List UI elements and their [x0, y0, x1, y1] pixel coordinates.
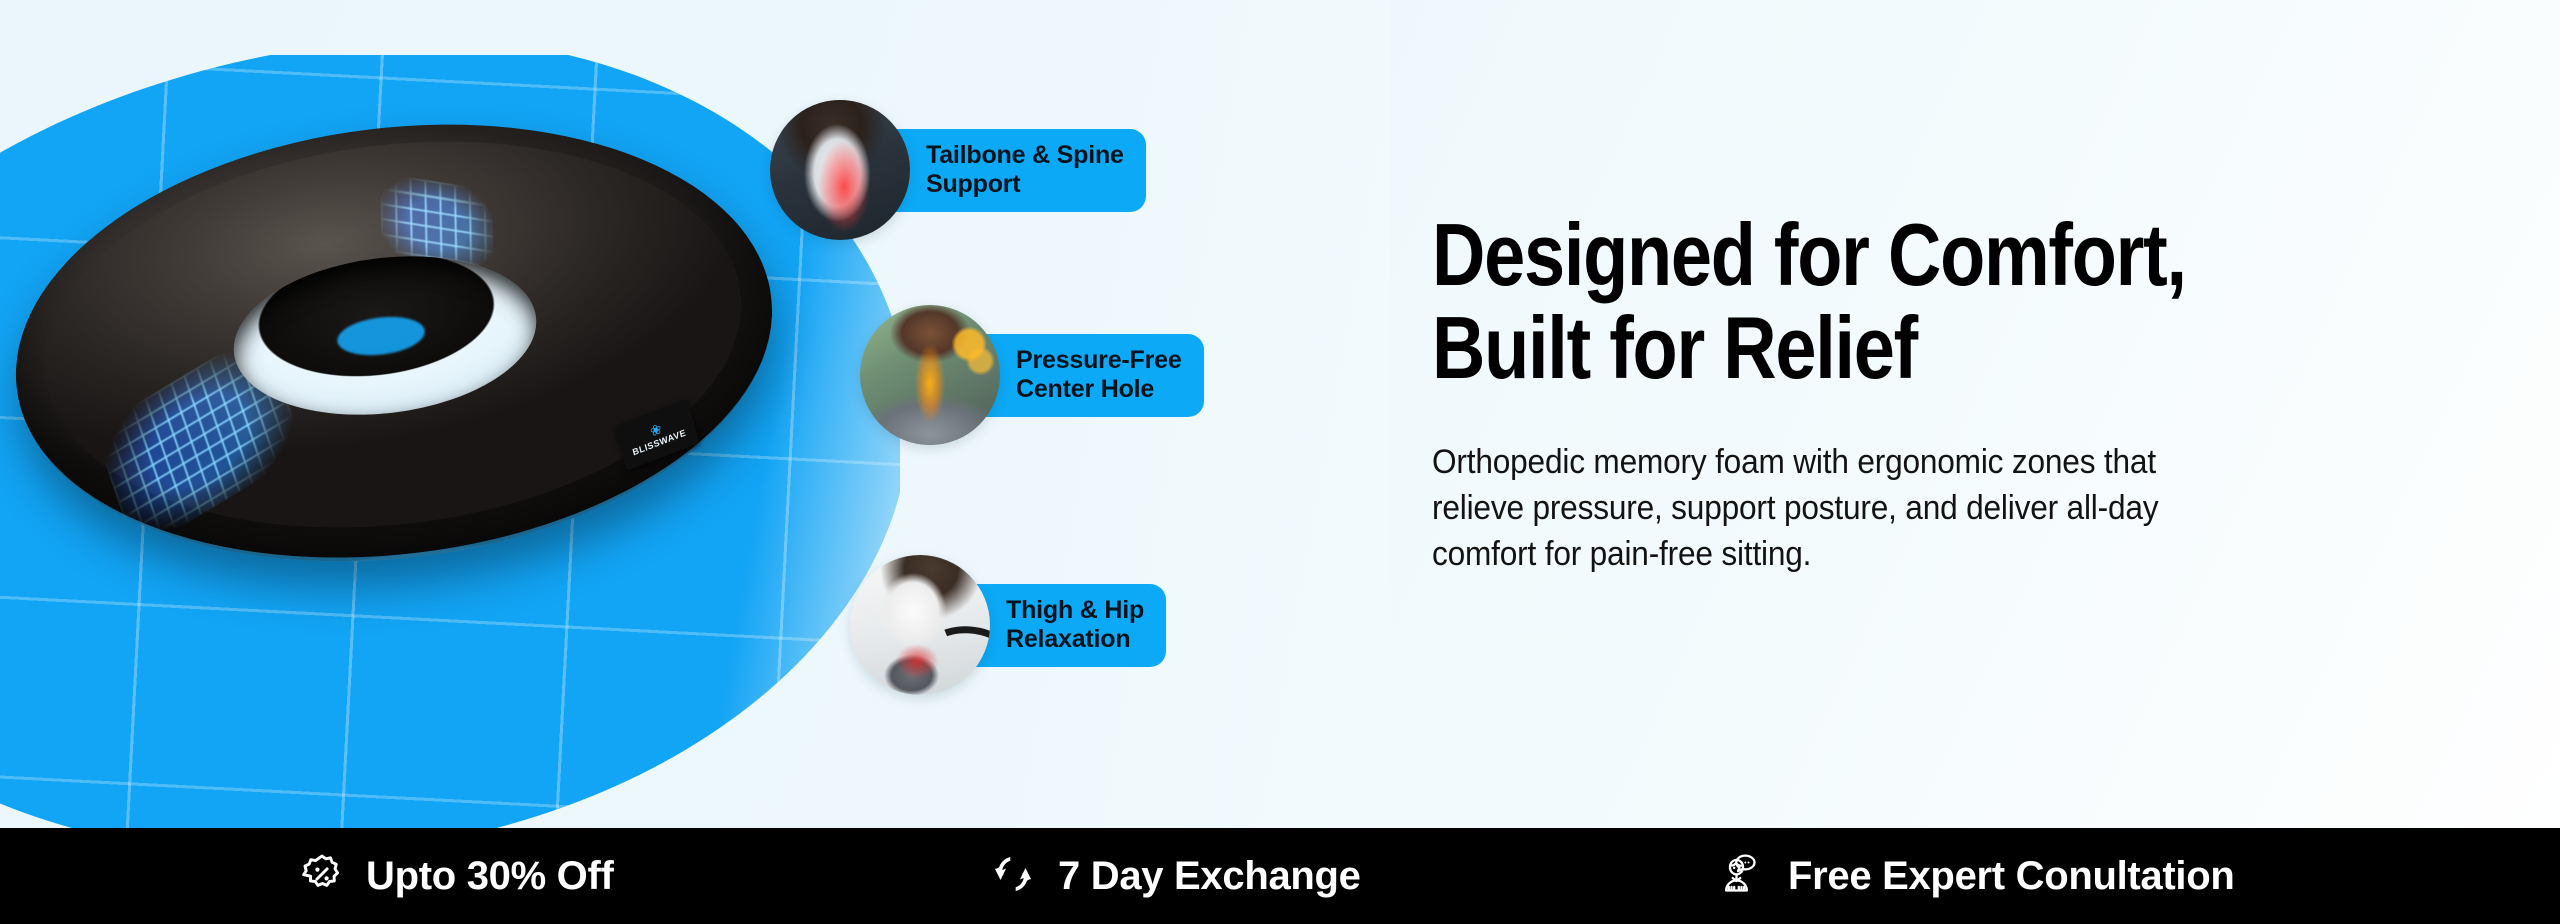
trust-item-consultation[interactable]: Free Expert Conultation [1720, 851, 2234, 902]
trust-label-exchange: 7 Day Exchange [1058, 854, 1361, 899]
trust-label-discount: Upto 30% Off [366, 854, 614, 899]
page-description: Orthopedic memory foam with ergonomic zo… [1432, 439, 2409, 578]
feature-callout-list: Tailbone & Spine Support Pressure-Free C… [770, 100, 1390, 750]
hip-pain-photo-art [850, 555, 990, 695]
trust-strip: Upto 30% Off 7 Day Exchange [0, 828, 2560, 924]
feature-pressure-free-center-hole[interactable]: Pressure-Free Center Hole [860, 305, 1204, 445]
trust-item-discount[interactable]: Upto 30% Off [300, 852, 990, 901]
feature-tailbone-spine-support[interactable]: Tailbone & Spine Support [770, 100, 1146, 240]
expert-consultation-icon [1720, 851, 1766, 902]
back-pain-photo-art [770, 100, 910, 240]
feature-thigh-hip-relaxation[interactable]: Thigh & Hip Relaxation [850, 555, 1166, 695]
neck-pain-photo-art [860, 305, 1000, 445]
discount-badge-icon [300, 852, 344, 901]
page-title: Designed for Comfort, Built for Relief [1432, 208, 2314, 395]
promo-banner: ❀ BLISSWAVE Tailbone & Spine Support Pre… [0, 0, 2560, 924]
hip-pain-photo [850, 555, 990, 695]
trust-item-exchange[interactable]: 7 Day Exchange [990, 851, 1720, 902]
trust-label-consultation: Free Expert Conultation [1788, 854, 2234, 899]
copy-block: Designed for Comfort, Built for Relief O… [1432, 208, 2482, 577]
back-pain-photo [770, 100, 910, 240]
cushion-center-hole-inner [335, 312, 427, 360]
neck-pain-photo [860, 305, 1000, 445]
exchange-arrows-icon [990, 851, 1036, 902]
